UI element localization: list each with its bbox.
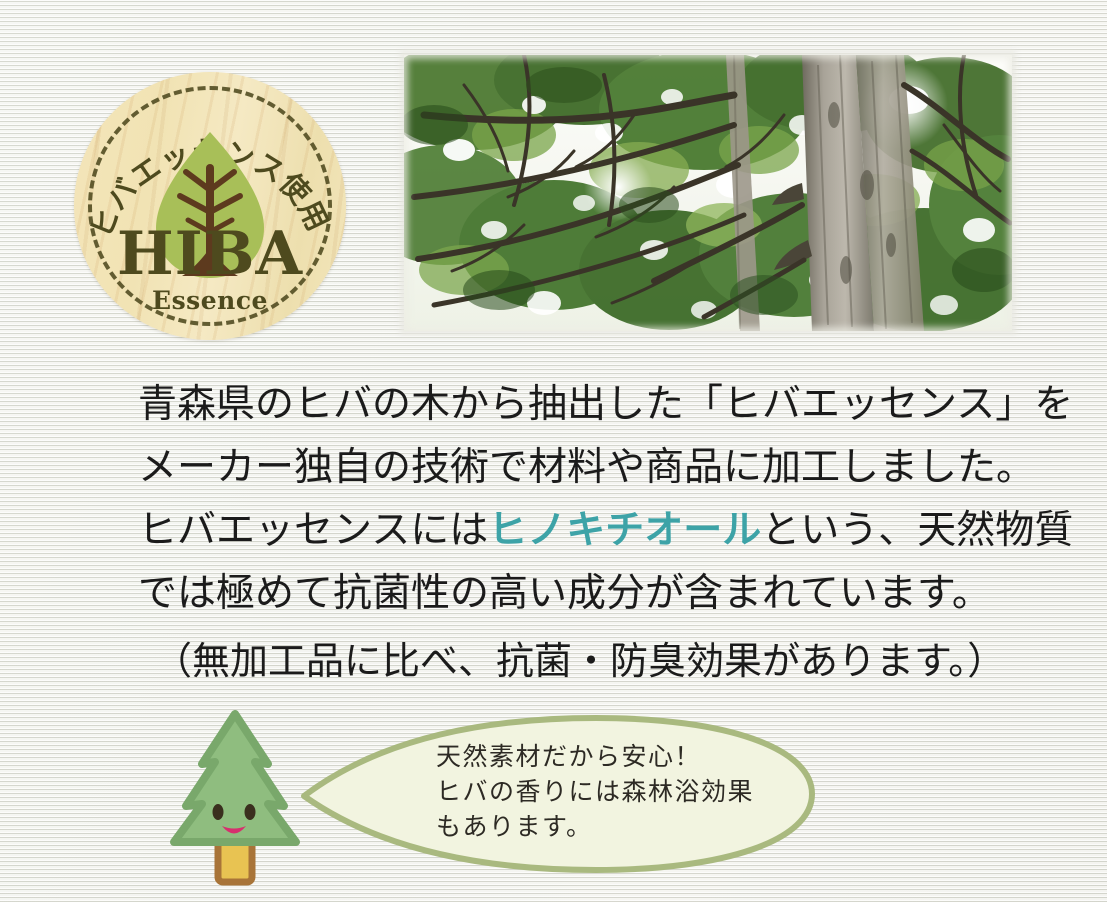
mascot-foliage xyxy=(174,714,296,842)
hiba-forest-photo xyxy=(404,55,1012,331)
speech-bubble-text: 天然素材だから安心！ ヒバの香りには森林浴効果 もあります。 xyxy=(436,739,806,844)
poster-canvas: ヒバエッセンス使用 HIBA Essence xyxy=(0,0,1107,902)
tree-character-mascot xyxy=(160,700,310,890)
paragraph-note: （無加工品に比べ、抗菌・防臭効果があります。） xyxy=(138,634,1048,688)
speech-bubble: 天然素材だから安心！ ヒバの香りには森林浴効果 もあります。 xyxy=(296,714,826,874)
paragraph-line: ヒバエッセンスにはヒノキチオールという、天然物質 xyxy=(138,504,1048,558)
highlighted-term: ヒノキチオール xyxy=(488,508,761,553)
tree-character-art xyxy=(160,700,310,890)
paragraph-line: メーカー独自の技術で材料や商品に加工しました。 xyxy=(138,441,1048,495)
paragraph-line: では極めて抗菌性の高い成分が含まれています。 xyxy=(138,567,1048,621)
bubble-line: ヒバの香りには森林浴効果 xyxy=(436,774,806,809)
mascot-eye-right xyxy=(245,804,256,820)
hiba-essence-badge: ヒバエッセンス使用 HIBA Essence xyxy=(74,72,346,340)
paragraph-line: 青森県のヒバの木から抽出した「ヒバエッセンス」を xyxy=(138,378,1048,432)
forest-photo-art xyxy=(404,55,1012,331)
paragraph-segment: という、天然物質 xyxy=(761,508,1073,553)
bubble-line: もあります。 xyxy=(436,809,806,844)
paragraph-segment: では極めて抗菌性の高い成分が含まれています。 xyxy=(138,571,991,616)
paragraph-segment: メーカー独自の技術で材料や商品に加工しました。 xyxy=(138,445,1035,490)
paragraph-segment: ヒバエッセンスには xyxy=(138,508,488,553)
bubble-line: 天然素材だから安心！ xyxy=(436,739,806,774)
paragraph-segment: 青森県のヒバの木から抽出した「ヒバエッセンス」を xyxy=(138,382,1073,427)
description-paragraph: 青森県のヒバの木から抽出した「ヒバエッセンス」を メーカー独自の技術で材料や商品… xyxy=(138,378,1048,697)
badge-wordmark-sub: Essence xyxy=(74,286,346,316)
badge-wordmark-main: HIBA xyxy=(74,224,346,284)
badge-wordmark: HIBA Essence xyxy=(74,224,346,316)
mascot-eye-left xyxy=(213,804,224,820)
